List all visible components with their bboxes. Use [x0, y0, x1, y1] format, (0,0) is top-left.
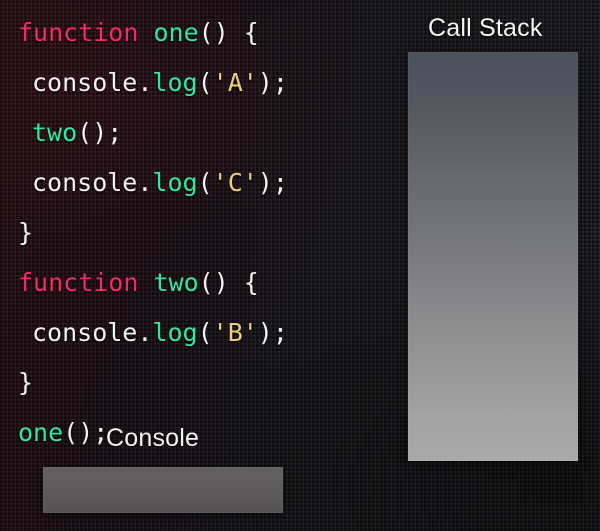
- code-line-8: }: [18, 358, 398, 408]
- code-token-string: 'A': [213, 68, 258, 97]
- code-line-3: two();: [18, 108, 398, 158]
- code-token-property: log: [152, 318, 197, 347]
- code-token-plain: [138, 268, 153, 297]
- code-token-punctuation: .: [137, 68, 152, 97]
- code-token-string: 'C': [213, 168, 258, 197]
- code-line-4: console.log('C');: [18, 158, 398, 208]
- code-token-property: log: [152, 168, 197, 197]
- code-token-function-name: two: [32, 118, 77, 147]
- console-panel[interactable]: [43, 467, 283, 513]
- code-token-object: console: [32, 168, 137, 197]
- code-token-plain: [138, 18, 153, 47]
- code-line-5: }: [18, 208, 398, 258]
- code-token-keyword: function: [18, 18, 138, 47]
- code-token-punctuation: () {: [199, 18, 259, 47]
- code-token-object: console: [32, 318, 137, 347]
- call-stack-visualization-scene: function one() {console.log('A');two();c…: [0, 0, 600, 531]
- code-token-property: log: [152, 68, 197, 97]
- code-line-6: function two() {: [18, 258, 398, 308]
- code-token-punctuation: ();: [77, 118, 122, 147]
- call-stack-frame-list: [408, 52, 578, 461]
- code-token-punctuation: );: [258, 168, 288, 197]
- code-token-punctuation: .: [137, 318, 152, 347]
- code-token-punctuation: .: [137, 168, 152, 197]
- code-token-punctuation: () {: [199, 268, 259, 297]
- code-line-7: console.log('B');: [18, 308, 398, 358]
- code-token-punctuation: }: [18, 218, 33, 247]
- code-token-punctuation: (: [198, 68, 213, 97]
- console-output: [43, 467, 283, 513]
- code-line-1: function one() {: [18, 8, 398, 58]
- code-token-function-name: one: [153, 18, 198, 47]
- code-token-punctuation: );: [258, 68, 288, 97]
- code-token-punctuation: );: [258, 318, 288, 347]
- code-token-string: 'B': [213, 318, 258, 347]
- code-token-function-name: two: [153, 268, 198, 297]
- code-token-punctuation: (: [198, 168, 213, 197]
- call-stack-panel[interactable]: [408, 52, 578, 461]
- code-token-punctuation: (: [198, 318, 213, 347]
- call-stack-title: Call Stack: [428, 14, 543, 43]
- code-token-punctuation: ();: [63, 418, 108, 447]
- console-title: Console: [106, 424, 199, 453]
- code-token-function-name: one: [18, 418, 63, 447]
- javascript-source-code: function one() {console.log('A');two();c…: [18, 8, 398, 458]
- code-line-9: one();: [18, 408, 398, 458]
- code-token-keyword: function: [18, 268, 138, 297]
- code-token-object: console: [32, 68, 137, 97]
- code-token-punctuation: }: [18, 368, 33, 397]
- code-line-2: console.log('A');: [18, 58, 398, 108]
